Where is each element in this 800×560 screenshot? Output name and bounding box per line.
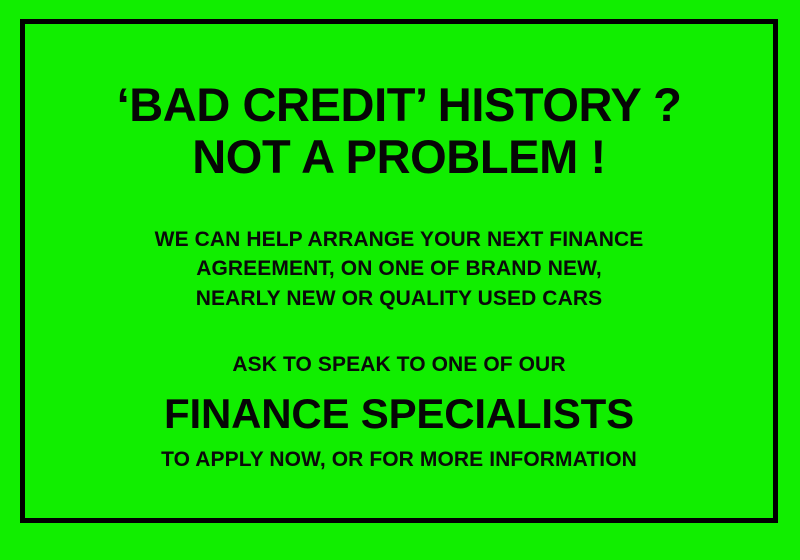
headline-line-1: ‘BAD CREDIT’ HISTORY ? (117, 80, 682, 130)
body-line-1: WE CAN HELP ARRANGE YOUR NEXT FINANCE (155, 225, 644, 255)
body-paragraph: WE CAN HELP ARRANGE YOUR NEXT FINANCE AG… (155, 225, 644, 314)
headline-line-2: NOT A PROBLEM ! (192, 132, 606, 182)
poster-content: ‘BAD CREDIT’ HISTORY ? NOT A PROBLEM ! W… (25, 24, 773, 518)
call-to-action-intro: ASK TO SPEAK TO ONE OF OUR (232, 350, 565, 380)
call-to-action-emphasis: FINANCE SPECIALISTS (164, 390, 634, 437)
body-line-3: NEARLY NEW OR QUALITY USED CARS (155, 284, 644, 314)
body-line-2: AGREEMENT, ON ONE OF BRAND NEW, (155, 254, 644, 284)
call-to-action-footer: TO APPLY NOW, OR FOR MORE INFORMATION (161, 445, 637, 475)
poster-canvas: ‘BAD CREDIT’ HISTORY ? NOT A PROBLEM ! W… (0, 0, 800, 560)
